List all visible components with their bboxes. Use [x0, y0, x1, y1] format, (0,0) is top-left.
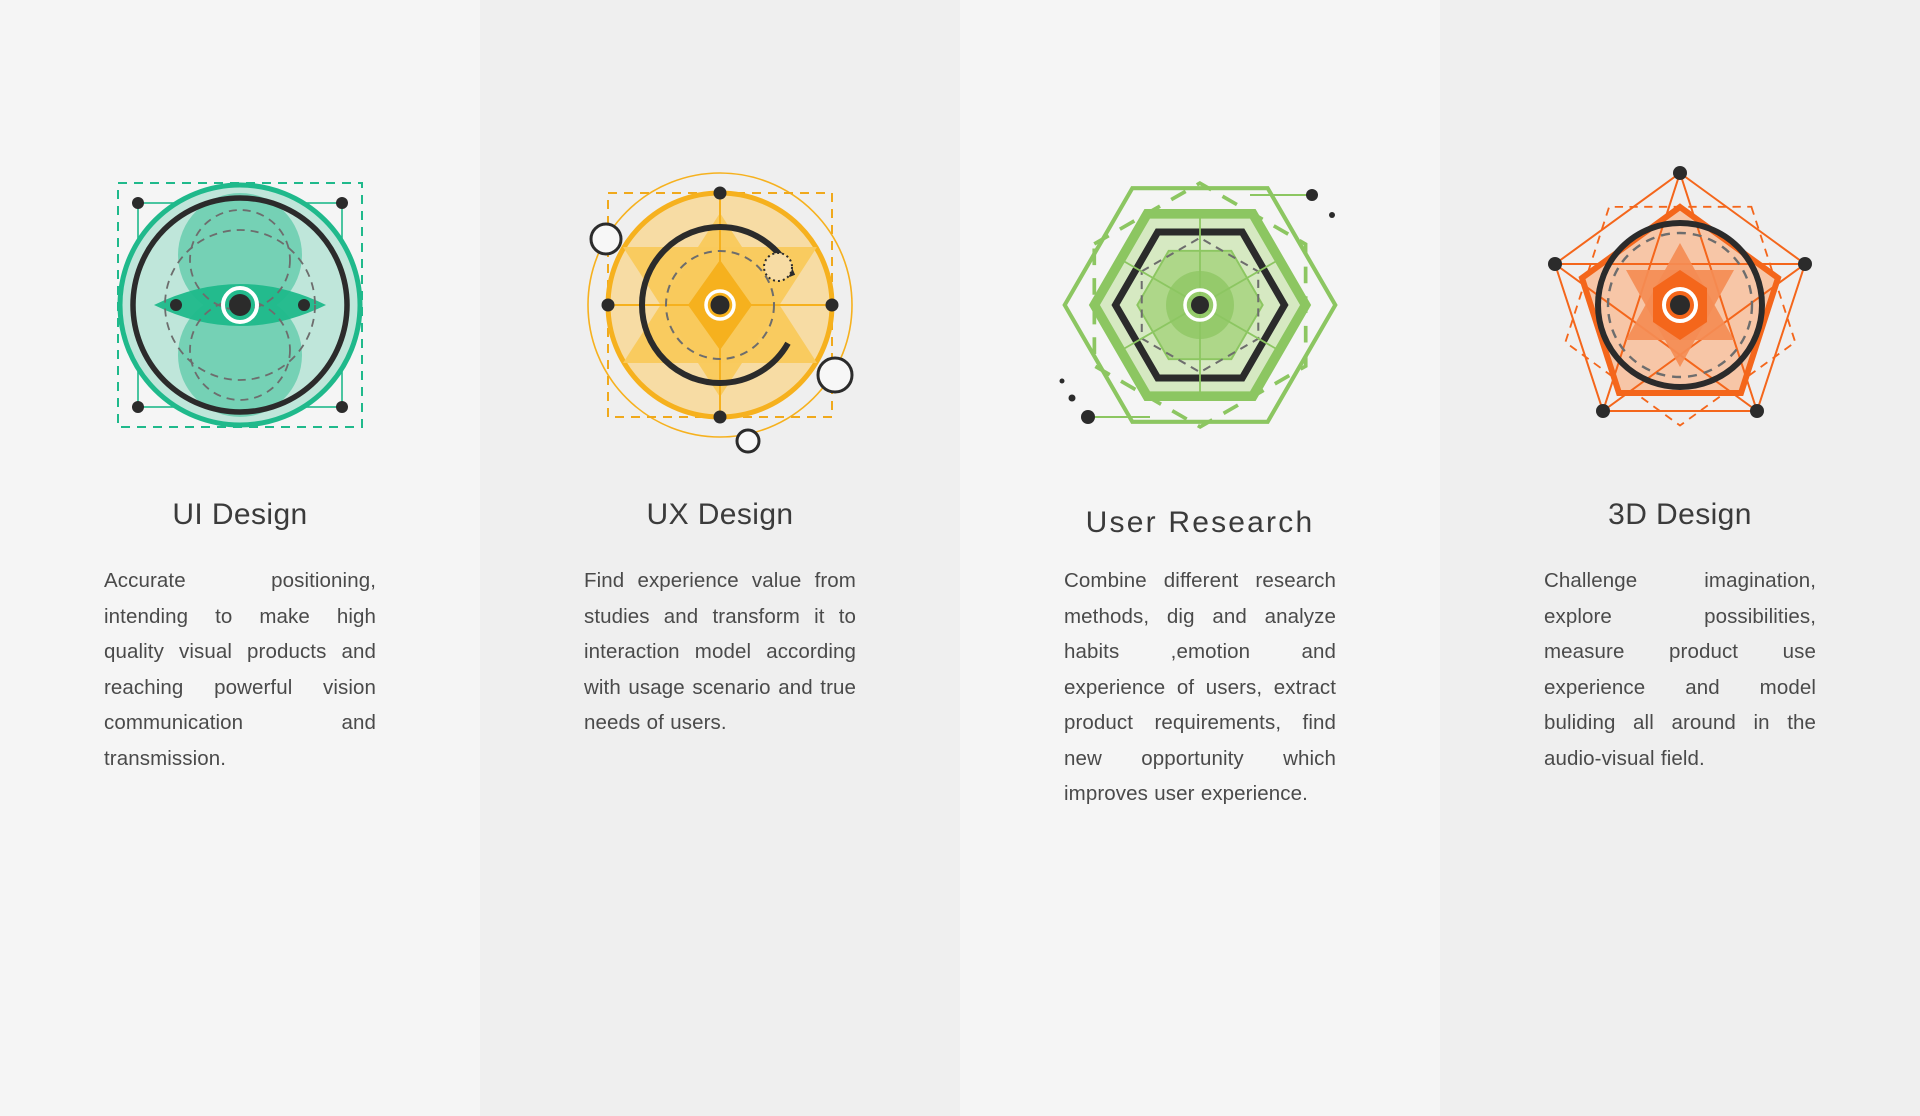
- ux-design-blueprint-icon: [570, 155, 870, 455]
- card-ux-design: UX Design Find experience value from stu…: [480, 0, 960, 1116]
- user-research-blueprint-icon: [1050, 155, 1350, 455]
- card-ui-design: UI Design Accurate positioning, intendin…: [0, 0, 480, 1116]
- card-title: UX Design: [647, 495, 794, 535]
- card-body: Find experience value from studies and t…: [584, 563, 856, 741]
- card-title: UI Design: [172, 495, 307, 535]
- card-body: Challenge imagination, explore possibili…: [1544, 563, 1816, 776]
- card-body: Combine different research methods, dig …: [1064, 563, 1336, 812]
- card-title: User Research: [1086, 503, 1315, 543]
- ui-design-blueprint-icon: [90, 155, 390, 455]
- card-user-research: User Research Combine different research…: [960, 0, 1440, 1116]
- card-3d-design: 3D Design Challenge imagination, explore…: [1440, 0, 1920, 1116]
- card-title: 3D Design: [1608, 495, 1752, 535]
- services-board: UI Design Accurate positioning, intendin…: [0, 0, 1920, 1116]
- three-d-design-blueprint-icon: [1530, 155, 1830, 455]
- card-body: Accurate positioning, intending to make …: [104, 563, 376, 776]
